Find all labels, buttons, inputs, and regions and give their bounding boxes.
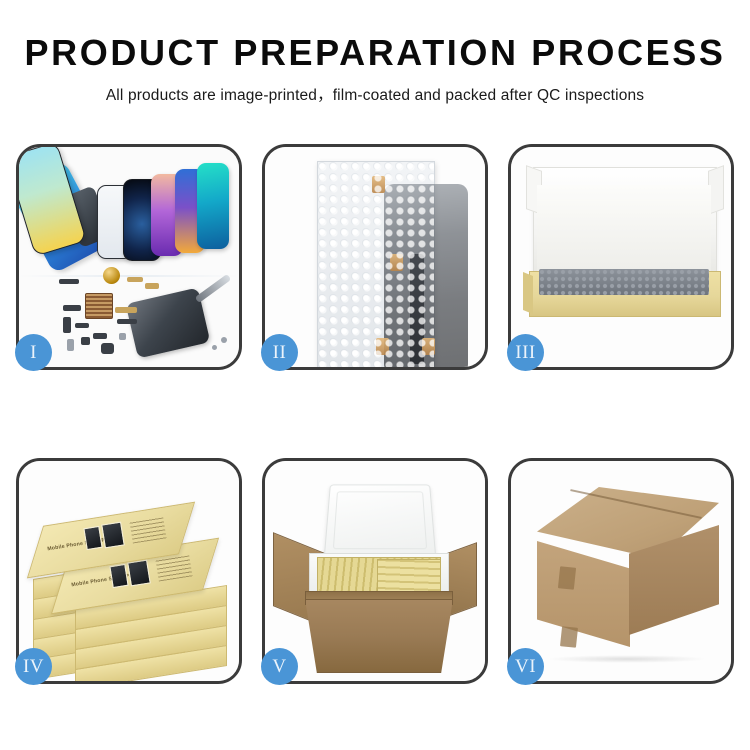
- bubble-wrapped-part-image: [265, 147, 485, 367]
- process-step-panel-2: II: [262, 144, 488, 370]
- product-preparation-page: PRODUCT PREPARATION PROCESS All products…: [0, 0, 750, 750]
- spare-part-flex-3: [115, 307, 137, 313]
- box-screen-image-front-2: [127, 560, 151, 587]
- open-yellow-box-image: [511, 147, 731, 367]
- process-step-panel-6: VI: [508, 458, 734, 684]
- step-badge-2: II: [261, 334, 298, 371]
- spare-part-screw-1: [221, 337, 227, 343]
- process-steps-grid: I II: [16, 144, 734, 684]
- foam-lid: [324, 484, 437, 557]
- spare-part-bracket-3: [63, 317, 71, 333]
- spare-part-bracket-1: [59, 279, 79, 284]
- repair-tweezers-icon: [195, 274, 231, 303]
- carton-left-face: [537, 541, 630, 647]
- process-step-panel-4: Mobile Phone Spare Parts Mobile Phone Sp…: [16, 458, 242, 684]
- phone-parts-collage-image: [19, 147, 239, 367]
- yellow-boxes-row-2: [377, 559, 441, 595]
- carton-shadow: [547, 655, 707, 663]
- page-title: PRODUCT PREPARATION PROCESS: [0, 34, 750, 72]
- vibration-motor-part: [103, 267, 120, 284]
- box-screen-image-back-1: [83, 526, 102, 550]
- carton-body: [305, 599, 453, 673]
- process-step-panel-3: III: [508, 144, 734, 370]
- spare-part-bracket-5: [117, 319, 137, 324]
- box-screen-image-back-2: [101, 522, 125, 549]
- spare-part-bracket-4: [75, 323, 89, 328]
- phone-teal-screen: [197, 163, 229, 249]
- stacked-yellow-boxes-image: Mobile Phone Spare Parts Mobile Phone Sp…: [19, 461, 239, 681]
- connector-tab-bottom-right: [422, 338, 435, 355]
- spare-part-screw-plate: [119, 333, 126, 340]
- header: PRODUCT PREPARATION PROCESS All products…: [0, 34, 750, 105]
- spare-part-connector: [93, 333, 107, 339]
- step-badge-6: VI: [507, 648, 544, 685]
- carton-with-foam-image: [265, 461, 485, 681]
- spare-part-screw-2: [212, 345, 217, 350]
- spare-part-camera: [81, 337, 90, 345]
- page-subtitle: All products are image-printed，film-coat…: [0, 83, 750, 105]
- spare-part-speaker: [101, 343, 114, 354]
- bubble-wrapped-contents: [539, 269, 709, 295]
- step-badge-3: III: [507, 334, 544, 371]
- connector-tab-middle: [390, 254, 403, 271]
- process-step-panel-1: I: [16, 144, 242, 370]
- white-foam-sheet: [537, 185, 711, 271]
- connector-tab-bottom-left: [376, 338, 389, 355]
- step-badge-5: V: [261, 648, 298, 685]
- sealed-carton-image: [511, 461, 731, 681]
- carton-tape-upper: [558, 566, 576, 590]
- spare-part-flex-1: [127, 277, 143, 282]
- carton-tape-lower: [560, 626, 578, 648]
- logic-board-chip: [85, 293, 113, 319]
- process-step-panel-5: V: [262, 458, 488, 684]
- bubble-wrap-bag: [317, 161, 435, 367]
- spare-part-flex-2: [145, 283, 159, 289]
- connector-tab-top: [372, 176, 385, 193]
- box-screen-image-front-1: [109, 564, 128, 588]
- spare-part-sim-tray: [67, 339, 74, 351]
- step-badge-4: IV: [15, 648, 52, 685]
- spare-part-bracket-2: [63, 305, 81, 311]
- step-badge-1: I: [15, 334, 52, 371]
